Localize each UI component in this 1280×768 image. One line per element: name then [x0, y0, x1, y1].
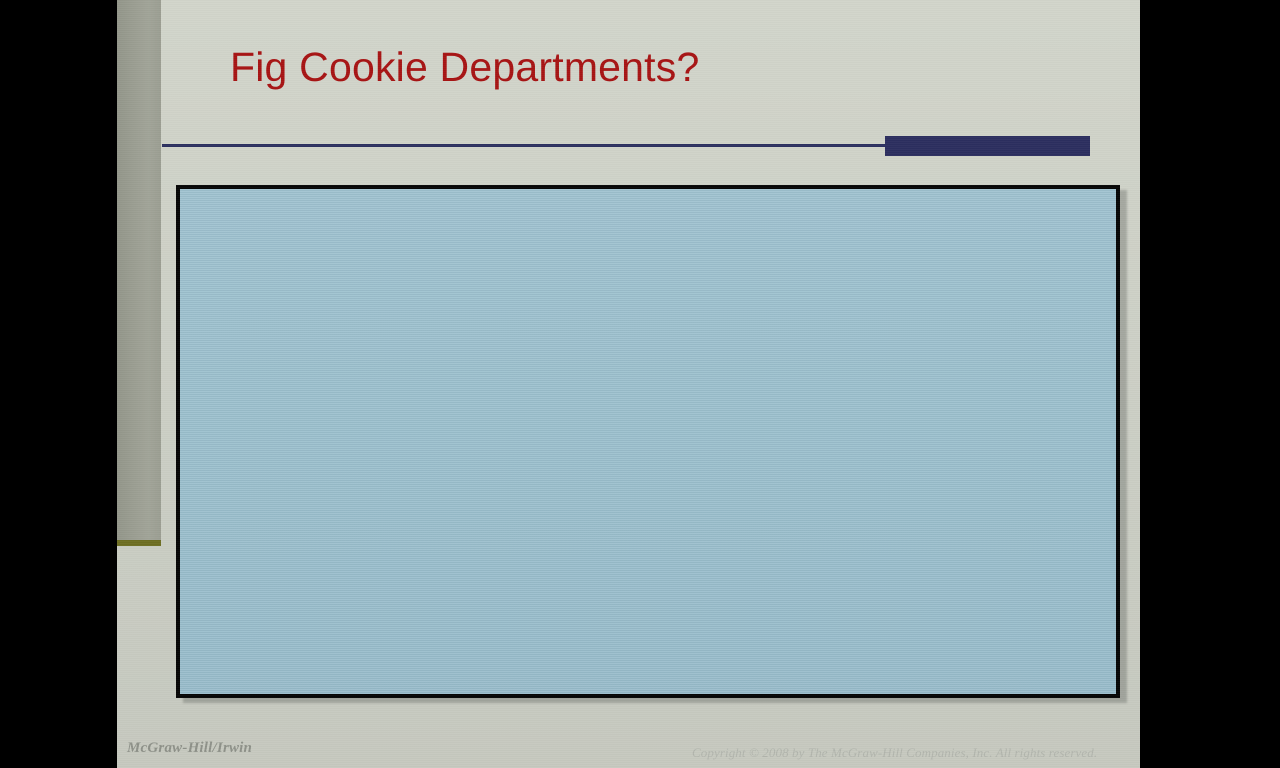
footer-copyright-label: Copyright © 2008 by The McGraw-Hill Comp…: [692, 745, 1097, 761]
slide-left-accent-band-footer: [117, 540, 161, 546]
content-panel: [176, 185, 1120, 698]
footer-brand-label: McGraw-Hill/Irwin: [127, 740, 252, 757]
title-divider-block: [885, 136, 1090, 156]
screen-canvas: Fig Cookie Departments? McGraw-Hill/Irwi…: [0, 0, 1280, 768]
content-panel-body: [180, 189, 1116, 694]
slide-title: Fig Cookie Departments?: [230, 44, 699, 91]
presentation-slide: Fig Cookie Departments? McGraw-Hill/Irwi…: [117, 0, 1140, 768]
slide-left-accent-band: [117, 0, 161, 545]
